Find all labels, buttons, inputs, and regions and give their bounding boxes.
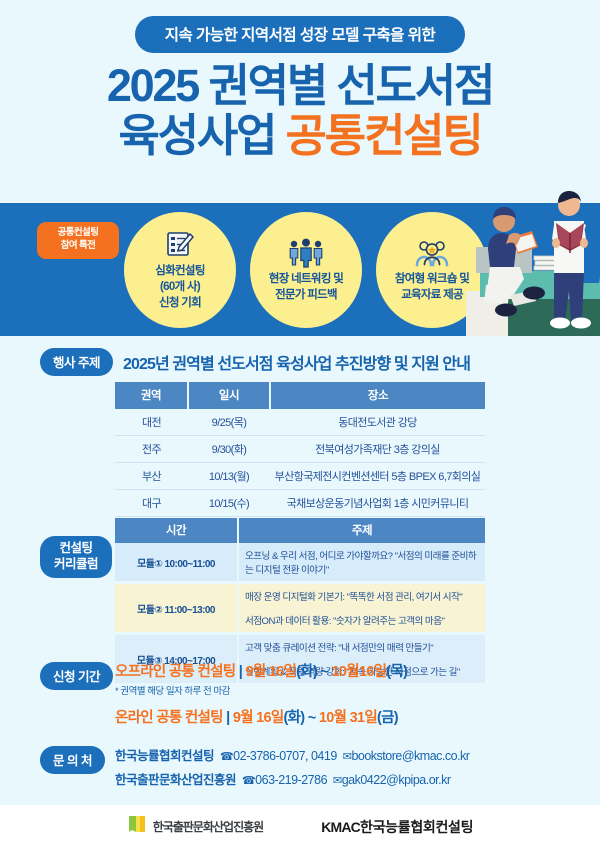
curriculum-table-header-row: 시간 주제 [115,518,485,543]
contact-pill: 문 의 처 [40,746,105,774]
people-reading-illustration [450,163,600,336]
contact-section: 문 의 처 한국능률협회컨설팅 ☎02-3786-0707, 0419 ✉boo… [0,745,600,788]
contact-org-1: 한국능률협회컨설팅 [115,749,214,763]
topic-cell-place: 부산항국제전시컨벤션센터 5층 BPEX 6,7회의실 [270,463,485,490]
apply-offline-start-day: (화) [296,664,317,680]
apply-offline-separator: | [239,664,242,680]
apply-offline-end: 10월16일 [332,664,387,680]
table-row: 모듈② 11:00~13:00 매장 운영 디지털화 기본기: "똑똑한 서점 … [115,584,485,608]
kmac-logo: KMAC한국능률협회컨설팅 [321,817,473,837]
kmac-logo-text: 한국능률협회컨설팅 [360,819,473,835]
topic-cell-date: 9/30(화) [188,436,270,463]
topic-col-region: 권역 [115,382,188,409]
kpipa-logo-icon [127,813,147,840]
curriculum-topic-2-1: 매장 운영 디지털화 기본기: "똑똑한 서점 관리, 여기서 시작" [238,584,485,608]
curriculum-pill-line-1: 컨설팅 [54,540,98,556]
topic-col-place: 장소 [270,382,485,409]
apply-online-label: 온라인 공통 컨설팅 [115,710,223,726]
apply-offline-end-day: (목) [386,664,407,680]
contact-row-2: 한국출판문화산업진흥원 ☎063-219-2786 ✉gak0422@kpipa… [115,769,469,788]
curriculum-table: 시간 주제 모듈① 10:00~11:00 오프닝 & 우리 서점, 어디로 가… [115,518,485,683]
benefit-1-line-2: (60개 사) [155,280,204,296]
topic-table-header-row: 권역 일시 장소 [115,382,485,409]
poster-root: 지속 가능한 지역서점 성장 모델 구축을 위한 2025 권역별 선도서점 육… [0,0,600,848]
apply-online-start: 9월 16일 [233,710,284,726]
apply-online-start-day: (화) [284,710,305,726]
apply-section: 신청 기간 오프라인 공통 컨설팅 | 9월 16일(화) ~ 10월16일(목… [0,660,600,727]
curriculum-topic-1-1: 오프닝 & 우리 서점, 어디로 가야할까요? "서점의 미래를 준비하는 디지… [238,543,485,581]
contact-row-1: 한국능률협회컨설팅 ☎02-3786-0707, 0419 ✉bookstore… [115,745,469,764]
email-icon: ✉ [333,775,342,787]
curriculum-topic-3-1: 고객 맞춤 큐레이션 전략: "내 서점만의 매력 만들기" [238,635,485,659]
topic-pill: 행사 주제 [40,348,113,376]
apply-online-end-day: (금) [377,710,398,726]
contact-email-1[interactable]: bookstore@kmac.co.kr [351,749,469,763]
table-row: 모듈① 10:00~11:00 오프닝 & 우리 서점, 어디로 가야할까요? … [115,543,485,581]
tagline-badge: 지속 가능한 지역서점 성장 모델 구축을 위한 [135,16,466,53]
kmac-logo-brand: KMAC [321,819,360,835]
curriculum-section: 컨설팅 커리큘럼 시간 주제 모듈① 10:00~11:00 오프닝 & 우리 … [0,518,600,683]
table-row: 전주 9/30(화) 전북여성가족재단 3층 강의실 [115,436,485,463]
benefits-badge-line-2: 참여 특전 [39,240,117,253]
contact-phone-2: 063-219-2786 [255,773,327,787]
topic-cell-place: 전북여성가족재단 3층 강의실 [270,436,485,463]
apply-online-line: 온라인 공통 컨설팅 | 9월 16일(화) ~ 10월 31일(금) [115,706,407,727]
benefit-1-line-1: 심화컨설팅 [155,264,204,280]
table-row: 모듈③ 14:00~17:00 고객 맞춤 큐레이션 전략: "내 서점만의 매… [115,635,485,659]
apply-pill: 신청 기간 [40,662,113,690]
contact-email-2[interactable]: gak0422@kpipa.or.kr [342,773,451,787]
benefit-1-line-3: 신청 기회 [155,296,204,312]
topic-section: 행사 주제 2025년 권역별 선도서점 육성사업 추진방향 및 지원 안내 권… [0,348,600,544]
curriculum-col-time: 시간 [115,518,238,543]
curriculum-pill: 컨설팅 커리큘럼 [40,536,112,578]
curriculum-time-2: 모듈② 11:00~13:00 [115,584,238,632]
topic-cell-region: 부산 [115,463,188,490]
topic-col-date: 일시 [188,382,270,409]
benefit-2-line-2: 전문가 피드백 [269,288,343,304]
apply-offline-tilde: ~ [320,664,328,680]
topic-cell-place: 국채보상운동기념사업회 1층 시민커뮤니티 [270,490,485,517]
title-line-2-accent: 공통컨설팅 [286,110,482,161]
title-line-1: 2025 권역별 선도서점 [0,63,600,109]
contact-phone-1: 02-3786-0707, 0419 [233,749,337,763]
title-line-2-plain: 육성사업 [118,110,285,161]
table-row: 대구 10/15(수) 국채보상운동기념사업회 1층 시민커뮤니티 [115,490,485,517]
apply-online-tilde: ~ [308,710,316,726]
table-row: 대전 9/25(목) 동대전도서관 강당 [115,409,485,436]
topic-cell-date: 10/15(수) [188,490,270,517]
topic-cell-date: 10/13(월) [188,463,270,490]
apply-online-separator: | [226,710,229,726]
apply-online-end: 10월 31일 [319,710,377,726]
top-badge-container: 지속 가능한 지역서점 성장 모델 구축을 위한 [0,0,600,53]
apply-note: * 권역별 해당 일자 하루 전 마감 [115,683,407,697]
curriculum-time-1: 모듈① 10:00~11:00 [115,543,238,581]
benefit-circle-1: 심화컨설팅 (60개 사) 신청 기회 [124,212,236,328]
benefits-badge: 공통컨설팅 참여 특전 [37,222,119,259]
kpipa-logo: 한국출판문화산업진흥원 [127,813,263,840]
apply-offline-line: 오프라인 공통 컨설팅 | 9월 16일(화) ~ 10월16일(목) [115,660,407,681]
apply-offline-start: 9월 16일 [245,664,296,680]
title-line-2: 육성사업 공통컨설팅 [0,113,600,159]
apply-offline-label: 오프라인 공통 컨설팅 [115,664,235,680]
topic-heading: 2025년 권역별 선도서점 육성사업 추진방향 및 지원 안내 [123,350,470,374]
workshop-star-icon [412,236,452,268]
footer-logos: 한국출판문화산업진흥원 KMAC한국능률협회컨설팅 [0,805,600,848]
curriculum-pill-line-2: 커리큘럼 [54,556,98,572]
benefit-2-text: 현장 네트워킹 및 전문가 피드백 [269,272,343,304]
benefit-circle-2: 현장 네트워킹 및 전문가 피드백 [250,212,362,328]
topic-cell-place: 동대전도서관 강당 [270,409,485,436]
topic-cell-region: 전주 [115,436,188,463]
curriculum-topic-2-2: 서점ON과 데이터 활용: "숫자가 알려주는 고객의 마음" [238,608,485,632]
benefits-badge-line-1: 공통컨설팅 [39,227,117,240]
page-title: 2025 권역별 선도서점 육성사업 공통컨설팅 [0,63,600,159]
checklist-icon [165,228,195,260]
table-row: 부산 10/13(월) 부산항국제전시컨벤션센터 5층 BPEX 6,7회의실 [115,463,485,490]
kpipa-logo-text: 한국출판문화산업진흥원 [153,818,263,835]
curriculum-col-subject: 주제 [238,518,485,543]
contact-list: 한국능률협회컨설팅 ☎02-3786-0707, 0419 ✉bookstore… [115,745,469,788]
topic-cell-date: 9/25(목) [188,409,270,436]
apply-details: 오프라인 공통 컨설팅 | 9월 16일(화) ~ 10월16일(목) * 권역… [115,660,407,727]
benefits-circle-list: 심화컨설팅 (60개 사) 신청 기회 현장 네트워킹 및 전문가 [124,212,488,328]
benefit-1-text: 심화컨설팅 (60개 사) 신청 기회 [155,264,204,312]
topic-cell-region: 대구 [115,490,188,517]
phone-icon: ☎ [242,775,255,787]
benefit-2-line-1: 현장 네트워킹 및 [269,272,343,288]
contact-org-2: 한국출판문화산업진흥원 [115,773,236,787]
people-group-icon [287,236,325,268]
topic-cell-region: 대전 [115,409,188,436]
phone-icon: ☎ [220,751,233,763]
